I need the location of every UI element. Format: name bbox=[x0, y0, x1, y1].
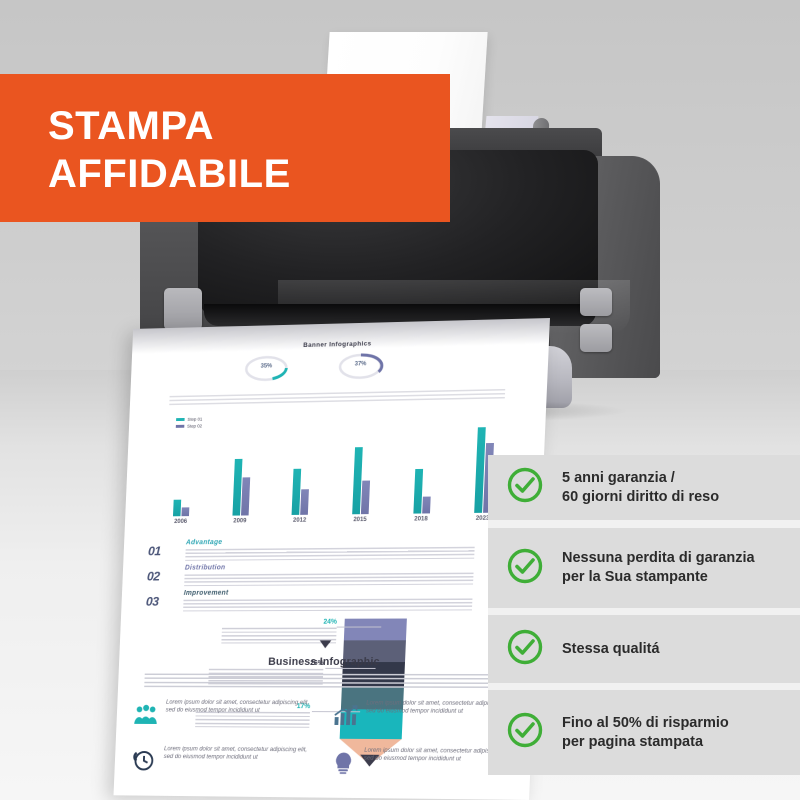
list-body-lines bbox=[185, 547, 474, 561]
bar-group-2015 bbox=[330, 447, 394, 515]
bar-step-02-2006 bbox=[181, 507, 189, 516]
donut-1-value: 35% bbox=[242, 363, 290, 370]
donut-chart-2: 37% bbox=[336, 352, 386, 381]
check-circle-icon bbox=[506, 466, 544, 509]
x-tick-2015: 2015 bbox=[329, 516, 390, 530]
feature-1-line-2: 60 giorni diritto di reso bbox=[562, 488, 719, 507]
icon-cell-3-text: Lorem ipsum dolor sit amet, consectetur … bbox=[164, 745, 313, 762]
feature-card-1[interactable]: 5 anni garanzia / 60 giorni diritto di r… bbox=[488, 455, 800, 520]
feature-card-1-text: 5 anni garanzia / 60 giorni diritto di r… bbox=[562, 469, 719, 507]
list-label: Improvement bbox=[184, 590, 229, 597]
bar-group-2006 bbox=[151, 499, 211, 516]
list-item: 03 Improvement bbox=[145, 588, 512, 615]
printed-output-sheet: Banner Infographics 35% 37% bbox=[113, 318, 550, 800]
bar-chart: Step 01 Step 02 200620092012201520182023 bbox=[151, 411, 518, 532]
x-tick-2009: 2009 bbox=[210, 517, 270, 531]
list-body-lines bbox=[183, 598, 472, 611]
bar-group-2009 bbox=[210, 458, 272, 516]
feature-2-line-1: Nessuna perdita di garanzia bbox=[562, 549, 755, 568]
legend-label-1: Step 01 bbox=[187, 417, 202, 422]
icon-grid: Lorem ipsum dolor sit amet, consectetur … bbox=[134, 699, 519, 700]
infographic-paragraph bbox=[169, 389, 505, 406]
feature-4-line-2: per pagina stampata bbox=[562, 733, 729, 752]
icon-cell-1-text: Lorem ipsum dolor sit amet, consectetur … bbox=[166, 699, 315, 715]
printer-control-button-2[interactable] bbox=[580, 324, 612, 352]
headline-line-2: AFFIDABILE bbox=[48, 152, 291, 196]
growth-chart-icon bbox=[332, 703, 358, 727]
legend-item-step-01: Step 01 bbox=[176, 417, 202, 422]
icon-cell-3: Lorem ipsum dolor sit amet, consectetur … bbox=[131, 745, 319, 791]
check-circle-icon bbox=[506, 628, 544, 671]
funnel-leader-line-1 bbox=[337, 626, 382, 627]
feature-card-4-text: Fino al 50% di risparmio per pagina stam… bbox=[562, 714, 729, 752]
funnel-percent-1: 24% bbox=[222, 619, 337, 626]
x-tick-2018: 2018 bbox=[390, 515, 452, 530]
feature-1-line-1: 5 anni garanzia / bbox=[562, 469, 719, 488]
bar-step-02-2012 bbox=[300, 489, 309, 515]
list-number: 02 bbox=[147, 569, 160, 584]
icon-cell-1: Lorem ipsum dolor sit amet, consectetur … bbox=[132, 699, 320, 745]
bar-group-2018 bbox=[391, 468, 454, 513]
business-paragraph bbox=[144, 674, 507, 690]
feature-card-3-text: Stessa qualitá bbox=[562, 640, 660, 659]
feature-card-2[interactable]: Nessuna perdita di garanzia per la Sua s… bbox=[488, 528, 800, 608]
list-item: 01 Advantage bbox=[147, 536, 514, 565]
list-item: 02 Distribution bbox=[146, 562, 513, 590]
printer-power-button[interactable] bbox=[164, 288, 202, 330]
donut-2-value: 37% bbox=[336, 361, 385, 368]
lightbulb-icon bbox=[330, 751, 356, 775]
list-number: 03 bbox=[146, 594, 159, 609]
x-tick-2012: 2012 bbox=[269, 516, 330, 530]
feature-3-line-1: Stessa qualitá bbox=[562, 640, 660, 659]
list-label: Advantage bbox=[186, 539, 223, 546]
headline-line-1: STAMPA bbox=[48, 104, 214, 148]
page-title: STAMPA AFFIDABILE bbox=[48, 102, 291, 198]
bar-step-02-2018 bbox=[422, 497, 431, 514]
feature-card-3[interactable]: Stessa qualitá bbox=[488, 615, 800, 683]
funnel-leader-line-2 bbox=[325, 668, 375, 669]
numbered-list: 01 Advantage 02 Distribution 03 Improvem… bbox=[145, 536, 514, 615]
funnel-segment-1 bbox=[344, 619, 407, 641]
infographic-title: Banner Infographics bbox=[132, 336, 549, 353]
list-label: Distribution bbox=[185, 564, 226, 571]
bar-step-02-2009 bbox=[241, 477, 250, 516]
list-body-lines bbox=[184, 573, 473, 587]
list-number: 01 bbox=[148, 544, 161, 559]
bar-step-02-2015 bbox=[361, 481, 370, 514]
feature-card-4[interactable]: Fino al 50% di risparmio per pagina stam… bbox=[488, 690, 800, 775]
down-arrow-icon bbox=[319, 640, 331, 648]
chart-bars bbox=[151, 419, 517, 517]
printer-control-button-1[interactable] bbox=[580, 288, 612, 316]
people-group-icon bbox=[133, 703, 158, 726]
bar-step-01-2006 bbox=[173, 500, 181, 517]
feature-4-line-1: Fino al 50% di risparmio bbox=[562, 714, 729, 733]
bar-group-2012 bbox=[270, 468, 332, 515]
business-infographic-title: Business Infographic bbox=[119, 656, 535, 668]
headline-banner: STAMPA AFFIDABILE bbox=[0, 74, 450, 222]
poster-canvas: Banner Infographics 35% 37% bbox=[0, 0, 800, 800]
feature-2-line-2: per la Sua stampante bbox=[562, 568, 755, 587]
feature-card-2-text: Nessuna perdita di garanzia per la Sua s… bbox=[562, 549, 755, 587]
x-tick-2006: 2006 bbox=[151, 518, 211, 532]
check-circle-icon bbox=[506, 547, 544, 590]
chart-x-axis: 200620092012201520182023 bbox=[151, 514, 514, 532]
clock-phone-icon bbox=[131, 749, 156, 772]
donut-chart-1: 35% bbox=[242, 354, 291, 383]
check-circle-icon bbox=[506, 711, 544, 754]
infographic: Banner Infographics 35% 37% bbox=[113, 318, 550, 800]
